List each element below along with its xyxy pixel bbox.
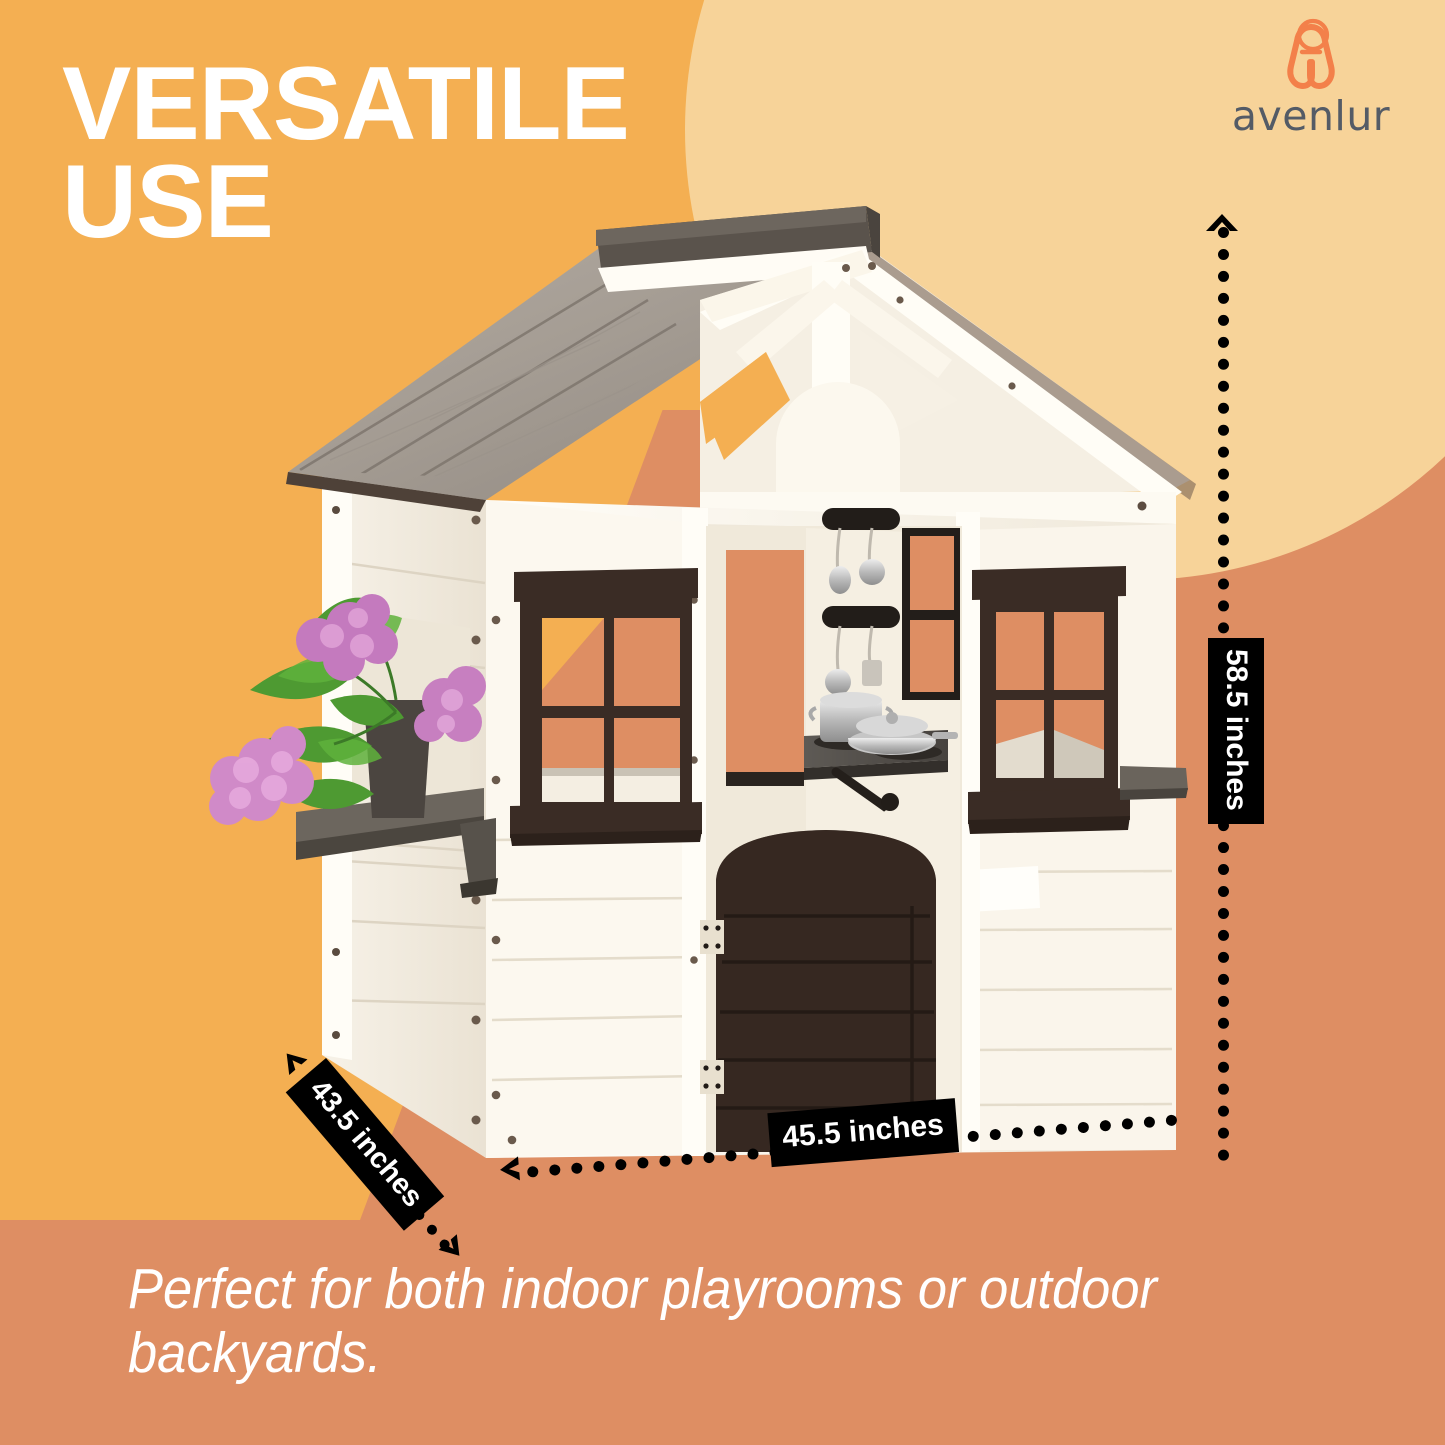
headline-line-2: USE (62, 154, 822, 252)
brand-logo: avenlur (1221, 18, 1401, 137)
page-caption: Perfect for both indoor playrooms or out… (128, 1258, 1260, 1386)
dimension-height-label: 58.5 inches (1208, 638, 1264, 824)
page-headline: VERSATILE USE (62, 56, 822, 252)
headline-line-1: VERSATILE (62, 56, 822, 154)
brand-name: avenlur (1221, 96, 1401, 137)
avenlur-a-mark-icon (1275, 18, 1347, 92)
dimension-width-label: 45.5 inches (767, 1098, 958, 1167)
marketing-image: VERSATILE USE avenlur 58.5 inches 45.5 i… (0, 0, 1445, 1445)
